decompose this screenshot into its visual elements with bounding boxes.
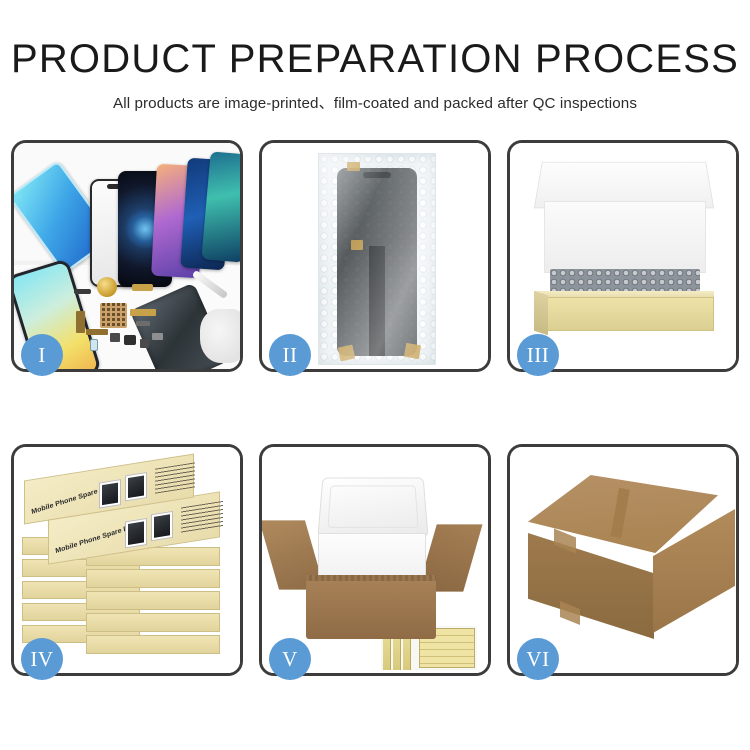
small-component-part: [136, 321, 150, 326]
box-product-image: [125, 472, 147, 501]
step-badge-1: I: [21, 334, 63, 376]
box-side-panel: [534, 291, 548, 336]
box-spec-lines: [155, 462, 195, 493]
small-component-part: [140, 339, 149, 348]
stacked-box: [86, 569, 220, 588]
step-panel-3: III: [507, 140, 739, 372]
plastic-gloss-highlight: [319, 154, 435, 364]
box-spec-lines: [181, 501, 223, 534]
small-component-part: [110, 333, 120, 342]
bubble-wrap-package: [318, 153, 436, 365]
step-badge-6: VI: [517, 638, 559, 680]
copper-coil-part: [97, 277, 117, 297]
small-component-part: [124, 335, 136, 345]
chip-array-part: [100, 303, 127, 328]
page-header: PRODUCT PREPARATION PROCESS All products…: [0, 0, 750, 113]
gloved-hand: [200, 309, 240, 363]
step-badge-2: II: [269, 334, 311, 376]
flex-cable-part: [76, 311, 85, 333]
step-panel-6: VI: [507, 444, 739, 676]
foam-sheet-lining: [544, 201, 706, 273]
box-product-image: [99, 479, 121, 508]
stacked-box: [86, 635, 220, 654]
step-panel-2: II: [259, 140, 491, 372]
step-badge-4: IV: [21, 638, 63, 680]
process-steps-grid: I II: [11, 140, 739, 676]
stacked-box: [86, 591, 220, 610]
step-badge-3: III: [517, 334, 559, 376]
box-product-image: [151, 511, 173, 541]
step-panel-5: V: [259, 444, 491, 676]
flex-cable-part: [132, 284, 153, 291]
battery-part: [90, 339, 98, 351]
small-component-part: [152, 333, 163, 340]
connector-part: [74, 289, 91, 294]
stacked-box: [86, 613, 220, 632]
product-preparation-page: PRODUCT PREPARATION PROCESS All products…: [0, 0, 750, 750]
step-badge-5: V: [269, 638, 311, 680]
flex-cable-part: [130, 309, 156, 316]
page-subtitle: All products are image-printed、film-coat…: [0, 91, 750, 113]
styrofoam-lid: [317, 478, 428, 538]
step-panel-4: Mobile Phone Spare Parts Mobile Phone Sp…: [11, 444, 243, 676]
flex-cable-part: [86, 329, 108, 335]
step-panel-1: I: [11, 140, 243, 372]
carton-body: [306, 575, 436, 639]
page-title: PRODUCT PREPARATION PROCESS: [0, 38, 750, 80]
box-front-panel: [536, 297, 714, 331]
box-product-image: [125, 518, 147, 548]
